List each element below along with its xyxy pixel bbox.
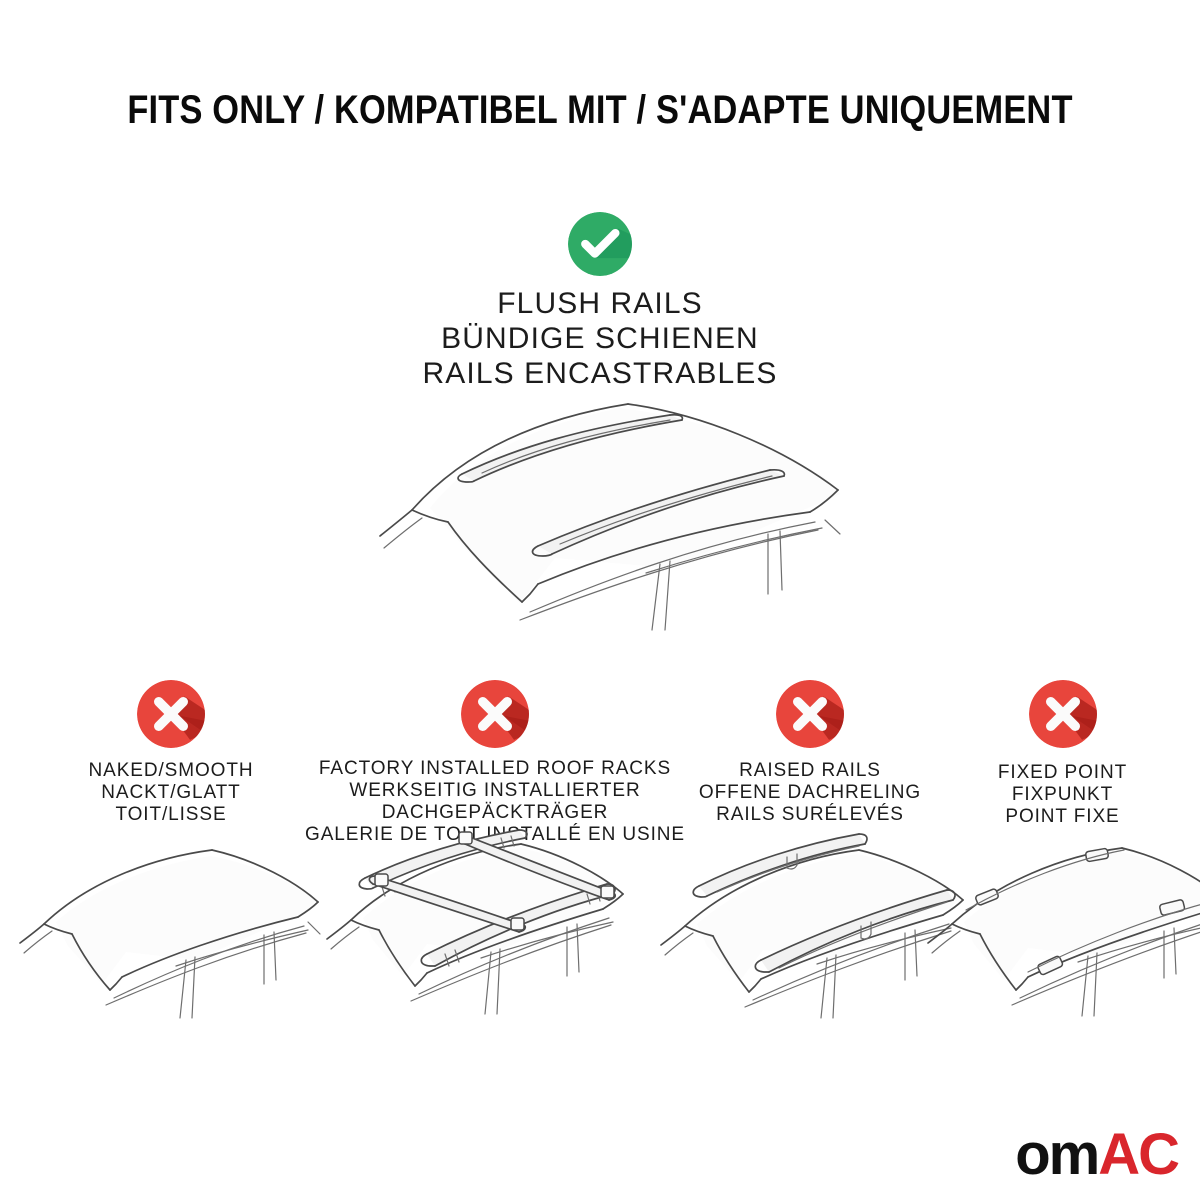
infographic-page: FITS ONLY / KOMPATIBEL MIT / S'ADAPTE UN…	[0, 0, 1200, 1200]
compatible-label-line-fr: RAILS ENCASTRABLES	[0, 356, 1200, 391]
x-circle-icon	[776, 680, 844, 748]
logo-text-red: AC	[1098, 1122, 1178, 1187]
caption-line-en: FIXED POINT	[940, 762, 1185, 784]
car-roof-with-fixed-points-illustration	[920, 830, 1200, 1030]
x-circle-icon	[461, 680, 529, 748]
caption-line-de-1: WERKSEITIG INSTALLIERTER	[305, 780, 685, 802]
omac-logo: omAC	[1015, 1126, 1178, 1184]
caption-line-de: FIXPUNKT	[940, 784, 1185, 806]
caption-line-de: OFFENE DACHRELING	[680, 782, 940, 804]
option-caption: RAISED RAILS OFFENE DACHRELING RAILS SUR…	[680, 760, 940, 826]
option-caption: NAKED/SMOOTH NACKT/GLATT TOIT/LISSE	[21, 760, 321, 826]
caption-line-fr: RAILS SURÉLEVÉS	[680, 804, 940, 826]
page-title: FITS ONLY / KOMPATIBEL MIT / S'ADAPTE UN…	[84, 88, 1116, 133]
caption-line-de: NACKT/GLATT	[21, 782, 321, 804]
x-circle-icon	[137, 680, 205, 748]
caption-line-en: NAKED/SMOOTH	[21, 760, 321, 782]
logo-text-dark: om	[1015, 1122, 1098, 1187]
compatible-label-line-en: FLUSH RAILS	[0, 286, 1200, 321]
caption-line-fr: POINT FIXE	[940, 806, 1185, 828]
car-roof-with-flush-rails-illustration	[370, 398, 850, 638]
caption-line-en: FACTORY INSTALLED ROOF RACKS	[305, 758, 685, 780]
check-circle-icon	[568, 212, 632, 276]
option-caption: FIXED POINT FIXPUNKT POINT FIXE	[940, 762, 1185, 828]
car-roof-bare-illustration	[16, 842, 326, 1032]
caption-line-en: RAISED RAILS	[680, 760, 940, 782]
caption-line-fr: TOIT/LISSE	[21, 804, 321, 826]
compatible-label-line-de: BÜNDIGE SCHIENEN	[0, 321, 1200, 356]
x-circle-icon	[1029, 680, 1097, 748]
compatible-label: FLUSH RAILS BÜNDIGE SCHIENEN RAILS ENCAS…	[0, 286, 1200, 391]
caption-line-de-2: DACHGEPÄCKTRÄGER	[305, 802, 685, 824]
car-roof-with-factory-crossbars-illustration	[315, 822, 635, 1032]
